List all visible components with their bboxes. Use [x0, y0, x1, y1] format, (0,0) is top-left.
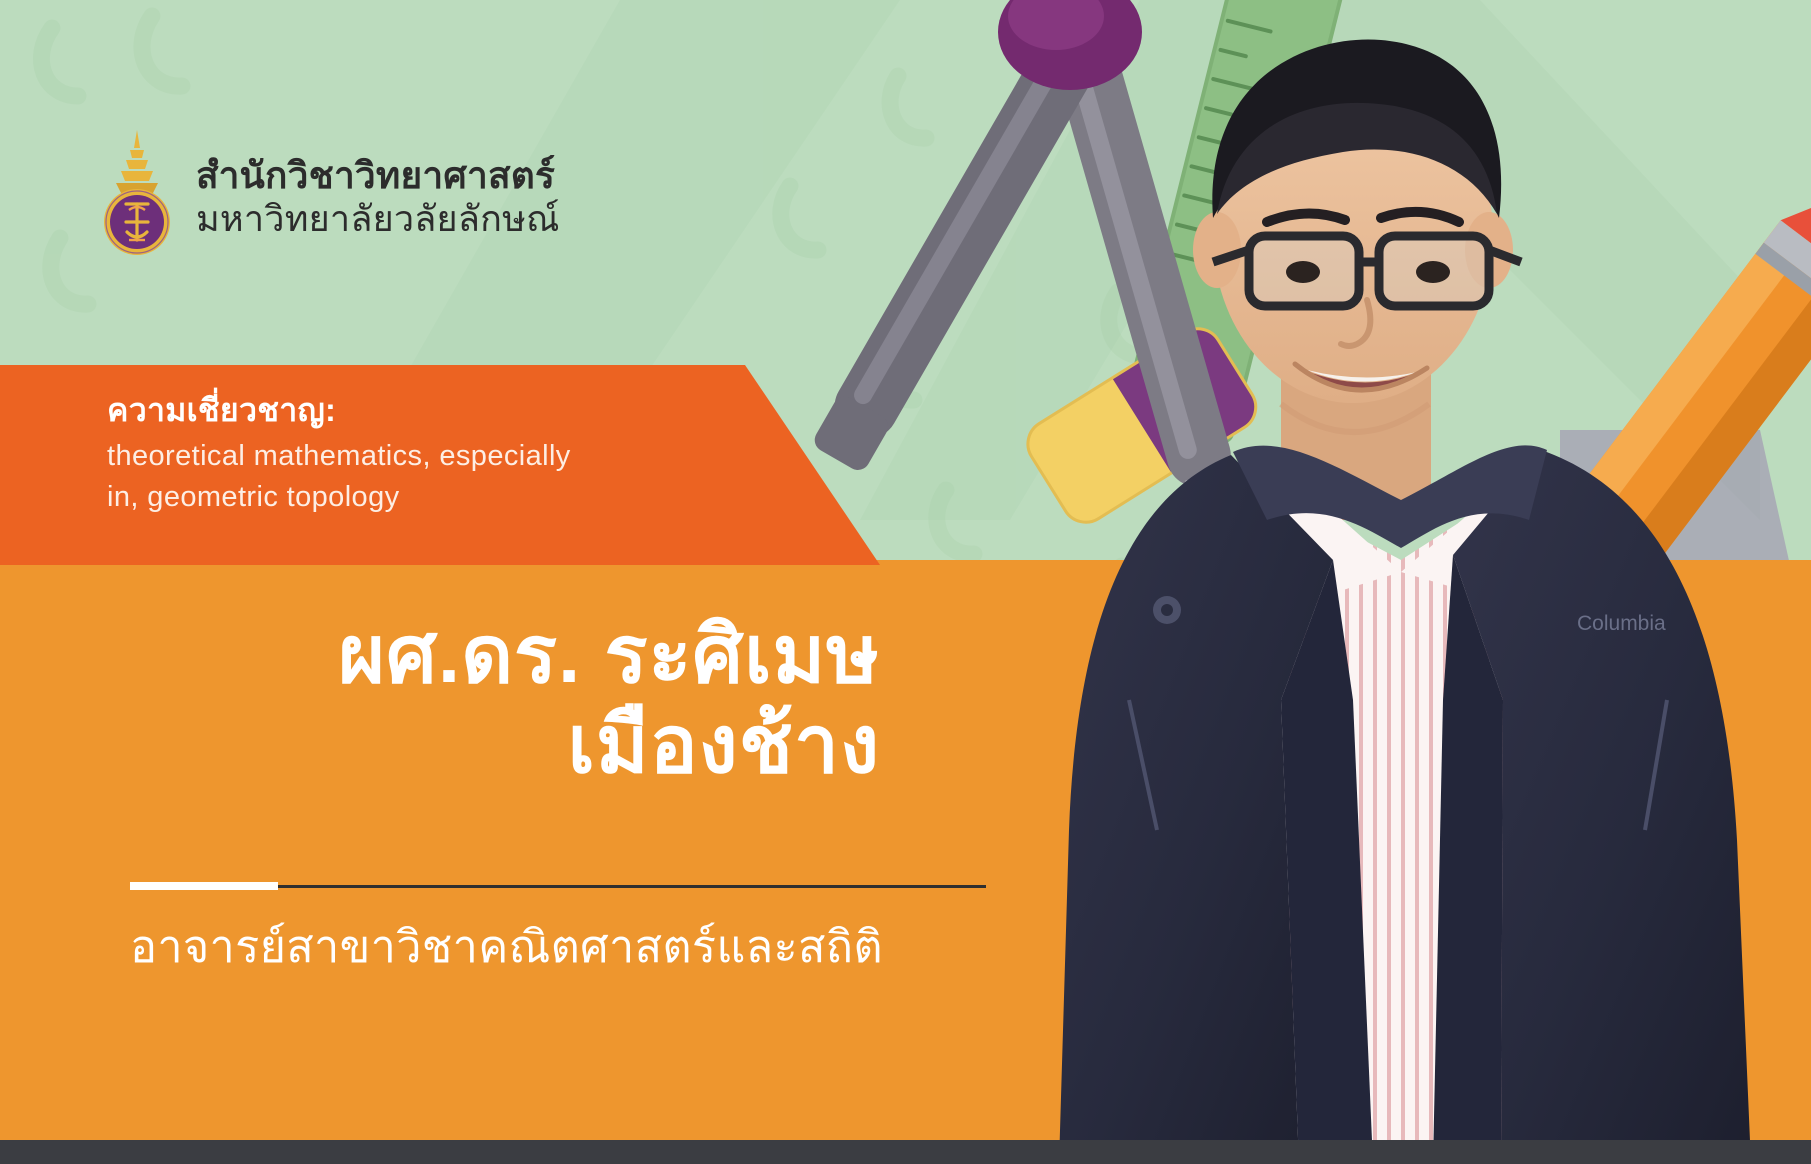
divider: [130, 882, 986, 890]
footer-bar: [0, 1140, 1811, 1164]
university-seal-icon: [100, 128, 174, 260]
person-role: อาจารย์สาขาวิชาคณิตศาสตร์และสถิติ: [130, 910, 883, 982]
expertise-line-1: theoretical mathematics, especially: [107, 436, 747, 477]
person-name: ผศ.ดร. ระศิเมษ เมืองช้าง: [0, 610, 990, 789]
expertise-line-2: in, geometric topology: [107, 477, 747, 518]
school-name: สำนักวิชาวิทยาศาสตร์: [196, 154, 560, 198]
person-name-line-2: เมืองช้าง: [0, 700, 880, 790]
expertise-heading: ความเชี่ยวชาญ:: [107, 390, 747, 430]
divider-thin-segment: [278, 885, 986, 888]
svg-text:Columbia: Columbia: [1577, 612, 1666, 635]
expertise-content: ความเชี่ยวชาญ: theoretical mathematics, …: [107, 390, 747, 518]
person-name-line-1: ผศ.ดร. ระศิเมษ: [0, 610, 880, 700]
profile-poster: 4 = + 2 1: [0, 0, 1811, 1164]
university-name: สำนักวิชาวิทยาศาสตร์ มหาวิทยาลัยวลัยลักษ…: [196, 148, 560, 240]
portrait-photo: Columbia: [981, 0, 1811, 1164]
university-logo-block: สำนักวิชาวิทยาศาสตร์ มหาวิทยาลัยวลัยลักษ…: [100, 128, 560, 260]
divider-thick-segment: [130, 882, 278, 890]
university-name-line: มหาวิทยาลัยวลัยลักษณ์: [196, 198, 560, 240]
